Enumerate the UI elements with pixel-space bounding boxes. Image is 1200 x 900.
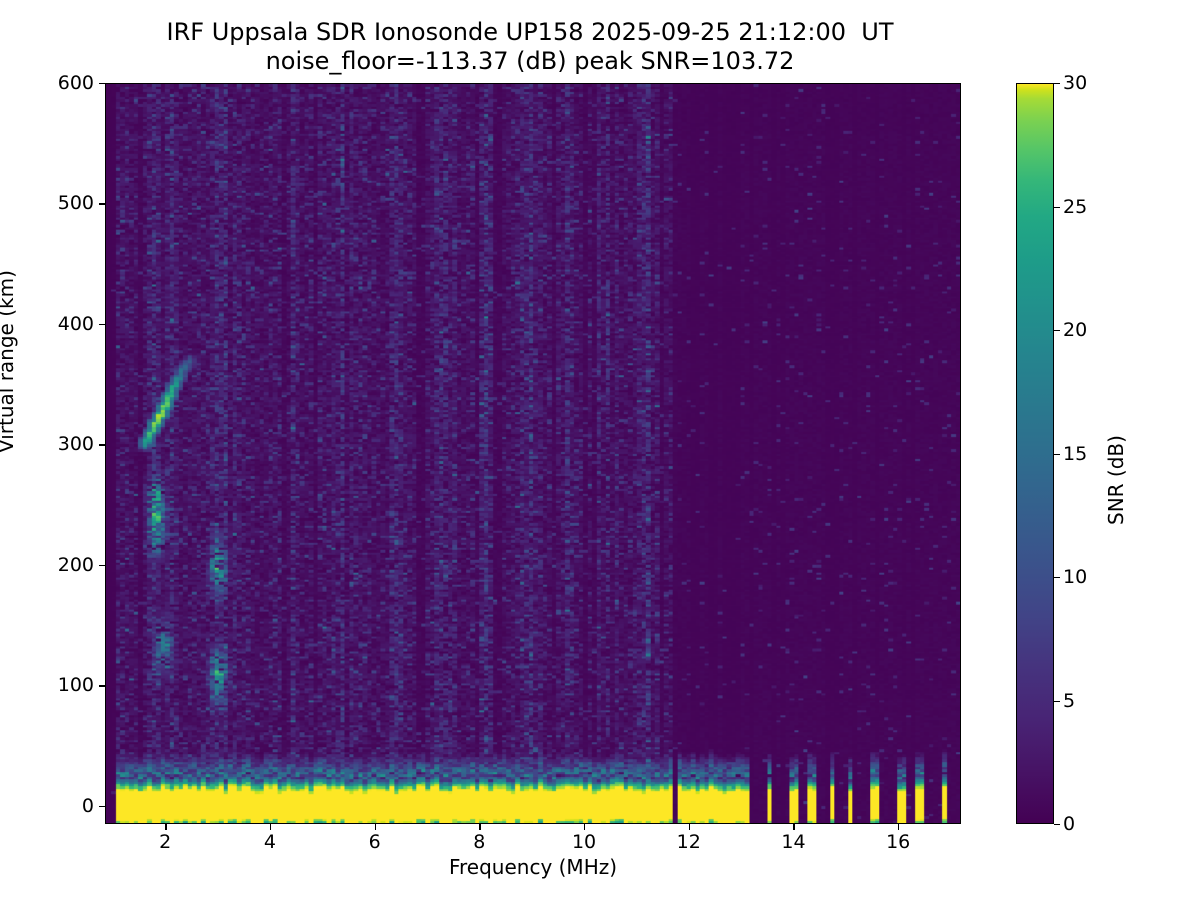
snr-colorbar <box>1016 83 1054 824</box>
ionogram-plot-area[interactable] <box>105 83 961 824</box>
y-tick-label: 200 <box>58 554 94 576</box>
x-tick-label: 10 <box>572 831 596 853</box>
colorbar-tick-label: 15 <box>1063 443 1087 465</box>
colorbar-label: SNR (dB) <box>1104 435 1128 525</box>
y-tick-label: 400 <box>58 313 94 335</box>
x-tick-mark <box>793 824 794 830</box>
x-axis-label: Frequency (MHz) <box>105 855 961 879</box>
y-tick-label: 500 <box>58 192 94 214</box>
x-tick-label: 2 <box>159 831 171 853</box>
y-tick-mark <box>99 444 105 445</box>
colorbar-tick-label: 25 <box>1063 196 1087 218</box>
x-tick-mark <box>689 824 690 830</box>
ionogram-figure: IRF Uppsala SDR Ionosonde UP158 2025-09-… <box>0 0 1200 900</box>
colorbar-tick-mark <box>1054 824 1060 825</box>
ionogram-heatmap <box>106 84 960 823</box>
x-tick-label: 4 <box>264 831 276 853</box>
x-tick-mark <box>165 824 166 830</box>
x-tick-label: 6 <box>369 831 381 853</box>
x-tick-label: 14 <box>781 831 805 853</box>
x-tick-label: 8 <box>473 831 485 853</box>
y-axis-label: Virtual range (km) <box>0 270 18 453</box>
x-tick-mark <box>375 824 376 830</box>
x-tick-mark <box>479 824 480 830</box>
title-line-1: IRF Uppsala SDR Ionosonde UP158 2025-09-… <box>0 18 1060 47</box>
colorbar-tick-mark <box>1054 207 1060 208</box>
y-tick-mark <box>99 806 105 807</box>
x-tick-mark <box>898 824 899 830</box>
y-tick-mark <box>99 203 105 204</box>
y-tick-label: 0 <box>82 795 94 817</box>
colorbar-tick-mark <box>1054 577 1060 578</box>
y-tick-mark <box>99 83 105 84</box>
colorbar-tick-label: 30 <box>1063 72 1087 94</box>
colorbar-tick-mark <box>1054 454 1060 455</box>
x-tick-mark <box>584 824 585 830</box>
colorbar-tick-label: 20 <box>1063 319 1087 341</box>
colorbar-tick-mark <box>1054 330 1060 331</box>
colorbar-tick-mark <box>1054 83 1060 84</box>
figure-title: IRF Uppsala SDR Ionosonde UP158 2025-09-… <box>0 18 1060 77</box>
y-tick-mark <box>99 565 105 566</box>
y-tick-mark <box>99 685 105 686</box>
colorbar-tick-label: 10 <box>1063 566 1087 588</box>
colorbar-tick-mark <box>1054 701 1060 702</box>
y-tick-label: 300 <box>58 433 94 455</box>
title-line-2: noise_floor=-113.37 (dB) peak SNR=103.72 <box>0 47 1060 76</box>
x-tick-label: 16 <box>886 831 910 853</box>
y-tick-mark <box>99 324 105 325</box>
y-tick-label: 100 <box>58 674 94 696</box>
x-tick-mark <box>270 824 271 830</box>
colorbar-tick-label: 5 <box>1063 690 1075 712</box>
y-tick-label: 600 <box>58 72 94 94</box>
x-tick-label: 12 <box>677 831 701 853</box>
colorbar-tick-label: 0 <box>1063 813 1075 835</box>
